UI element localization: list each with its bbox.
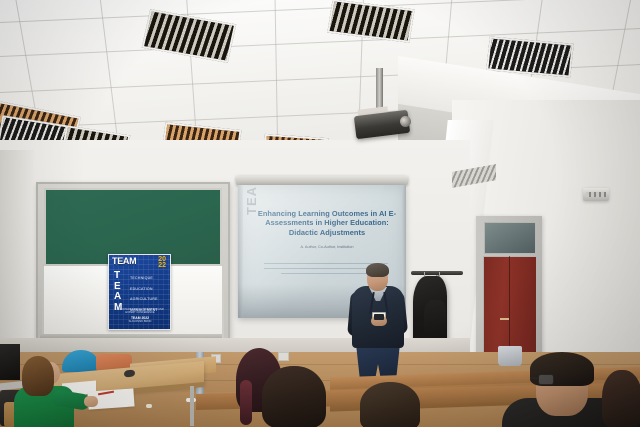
monitor-icon bbox=[0, 344, 20, 380]
poster-footer-place: SLAVONSKI BROD bbox=[115, 320, 165, 324]
audience-head-brown-hair bbox=[360, 382, 420, 427]
floor-paper bbox=[146, 404, 152, 408]
waste-bin-icon bbox=[498, 346, 522, 366]
poster-icon: TEAM 20 22 TEAM TECHNIQUE EDUCATION AGRI… bbox=[108, 254, 171, 330]
poster-word: TECHNIQUE bbox=[130, 273, 168, 284]
glasses-icon bbox=[538, 374, 554, 385]
seated-woman-hair bbox=[22, 356, 54, 396]
phone-icon bbox=[374, 314, 384, 320]
power-socket-icon bbox=[278, 352, 289, 361]
audience-hair-strand bbox=[240, 380, 252, 425]
poster-word: EDUCATION bbox=[130, 284, 168, 295]
door-handle-icon[interactable] bbox=[500, 318, 509, 320]
poster-footer: 10th INTERNATIONAL SCIENTIFIC AND EXPERT… bbox=[115, 308, 165, 324]
poster-footer-line: 10th INTERNATIONAL SCIENTIFIC AND EXPERT… bbox=[115, 308, 165, 315]
screen-roller-case bbox=[236, 176, 408, 185]
wall-lamp-icon bbox=[583, 188, 609, 201]
lecture-hall-photo: TEAM 20 22 TEAM TECHNIQUE EDUCATION AGRI… bbox=[0, 0, 640, 427]
presenter-hair bbox=[366, 263, 389, 277]
door-transom-window bbox=[484, 222, 536, 254]
glasses-temple bbox=[530, 377, 539, 379]
poster-year: 20 22 bbox=[158, 257, 166, 269]
seated-woman-hand bbox=[84, 396, 98, 407]
desk-leg bbox=[190, 386, 194, 426]
audience-head-edge bbox=[602, 370, 640, 427]
audience-head-brown-hair bbox=[262, 366, 326, 427]
poster-word: AGRICULTURE bbox=[130, 294, 168, 305]
poster-year-bottom: 22 bbox=[158, 263, 166, 269]
